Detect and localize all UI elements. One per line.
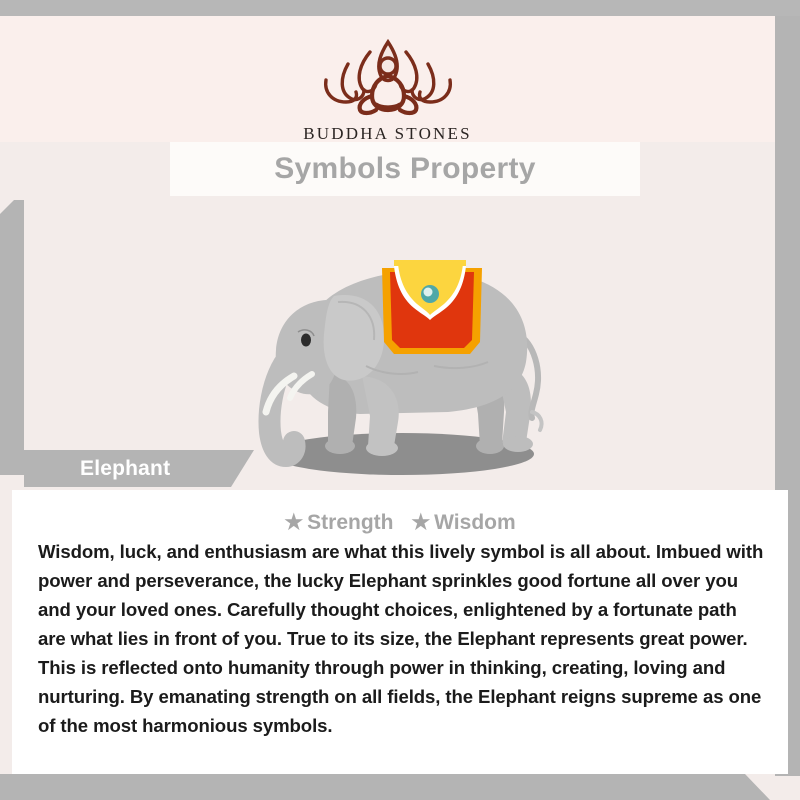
symbol-attribute-label: Strength (307, 511, 393, 534)
symbol-attribute-strength: ★Strength (284, 510, 393, 535)
symbol-attribute-label: Wisdom (434, 511, 515, 534)
elephant-eye (301, 334, 311, 347)
symbol-name-banner: Elephant (24, 450, 254, 487)
lotus-meditation-logo-icon (298, 34, 478, 122)
walking-elephant-illustration (234, 216, 574, 486)
symbol-name: Elephant (24, 457, 170, 481)
brand-header: BUDDHA STONES (0, 16, 775, 142)
symbol-property-card: BUDDHA STONES Symbols Property (0, 0, 800, 800)
symbol-attributes: ★Strength ★Wisdom (12, 510, 788, 535)
star-icon: ★ (411, 511, 430, 534)
star-icon: ★ (284, 511, 303, 534)
brand-name: BUDDHA STONES (0, 124, 775, 144)
frame-left-bar (0, 200, 24, 475)
page-title: Symbols Property (274, 152, 536, 186)
symbol-description: Wisdom, luck, and enthusiasm are what th… (38, 537, 766, 740)
brand-logo-block: BUDDHA STONES (0, 34, 775, 144)
frame-top-bar (0, 0, 800, 16)
frame-bottom-bar (0, 774, 800, 800)
symbol-attribute-wisdom: ★Wisdom (411, 510, 515, 535)
illustration-stage (24, 196, 775, 490)
title-band: Symbols Property (170, 142, 640, 196)
elephant-saddle (382, 260, 482, 354)
symbol-content-panel: ★Strength ★Wisdom Wisdom, luck, and enth… (12, 490, 788, 774)
